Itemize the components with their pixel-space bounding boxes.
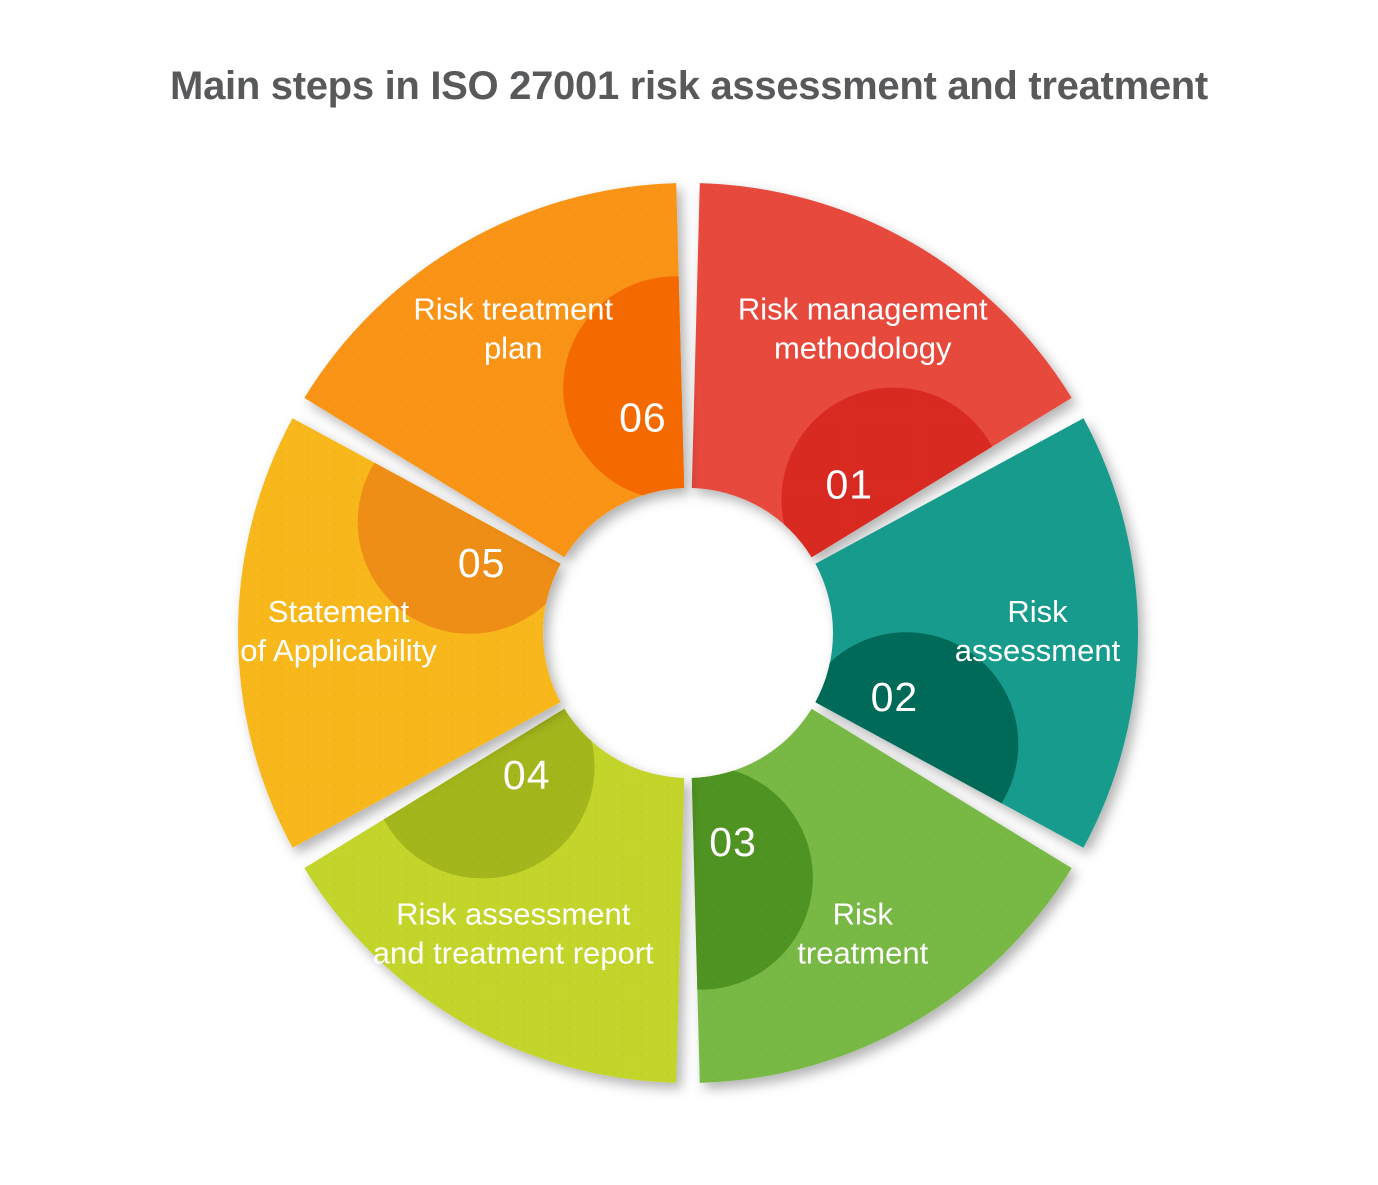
segment-label-line1: Risk bbox=[833, 897, 894, 932]
segment-label-line2: of Applicability bbox=[240, 633, 437, 668]
segment-number: 02 bbox=[871, 674, 919, 720]
segment-label-line2: assessment bbox=[955, 633, 1121, 668]
cycle-wheel-svg: Risk managementmethodology01Riskassessme… bbox=[0, 0, 1378, 1185]
cycle-diagram: Risk managementmethodology01Riskassessme… bbox=[0, 0, 1378, 1185]
segment-label-line2: treatment bbox=[797, 936, 928, 971]
segment-number: 03 bbox=[709, 819, 757, 865]
segment-label-line1: Statement bbox=[268, 594, 410, 629]
segment-label-line1: Risk treatment bbox=[413, 292, 613, 327]
segment-label-line2: and treatment report bbox=[373, 936, 654, 971]
segment-number: 04 bbox=[503, 752, 551, 798]
segment-label-line2: plan bbox=[484, 331, 543, 366]
segment-number: 06 bbox=[619, 395, 667, 441]
segment-label-line1: Risk management bbox=[738, 292, 988, 327]
segment-number: 05 bbox=[458, 540, 506, 586]
segment-label-line1: Risk assessment bbox=[396, 897, 631, 932]
segment-label-line1: Risk bbox=[1007, 594, 1068, 629]
segment-number: 01 bbox=[825, 462, 873, 508]
segment-label-line2: methodology bbox=[774, 331, 952, 366]
